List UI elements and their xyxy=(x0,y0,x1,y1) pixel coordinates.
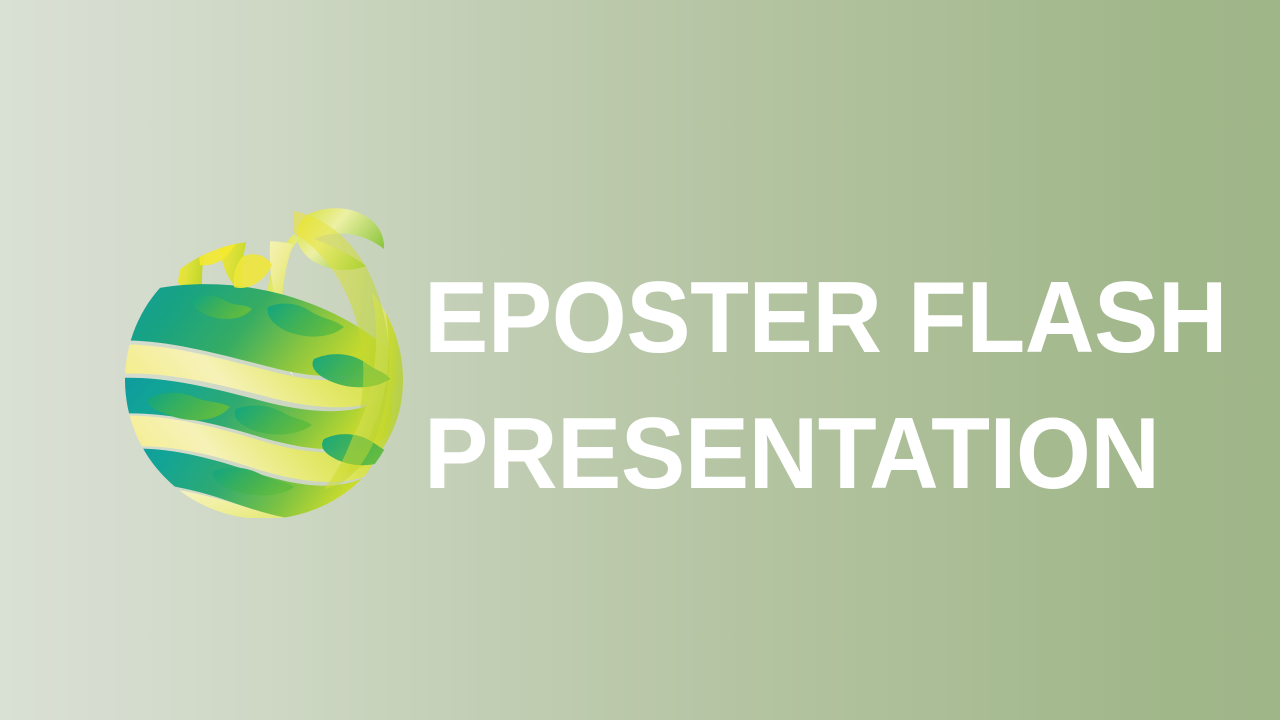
title-line-1: EPOSTER FLASH xyxy=(424,250,1188,386)
title-line-2: PRESENTATION xyxy=(424,386,1188,522)
swirling-globe-leaf-logo xyxy=(118,203,408,518)
page-title: EPOSTER FLASH PRESENTATION xyxy=(424,250,1224,522)
slide-canvas: EPOSTER FLASH PRESENTATION xyxy=(0,0,1280,720)
